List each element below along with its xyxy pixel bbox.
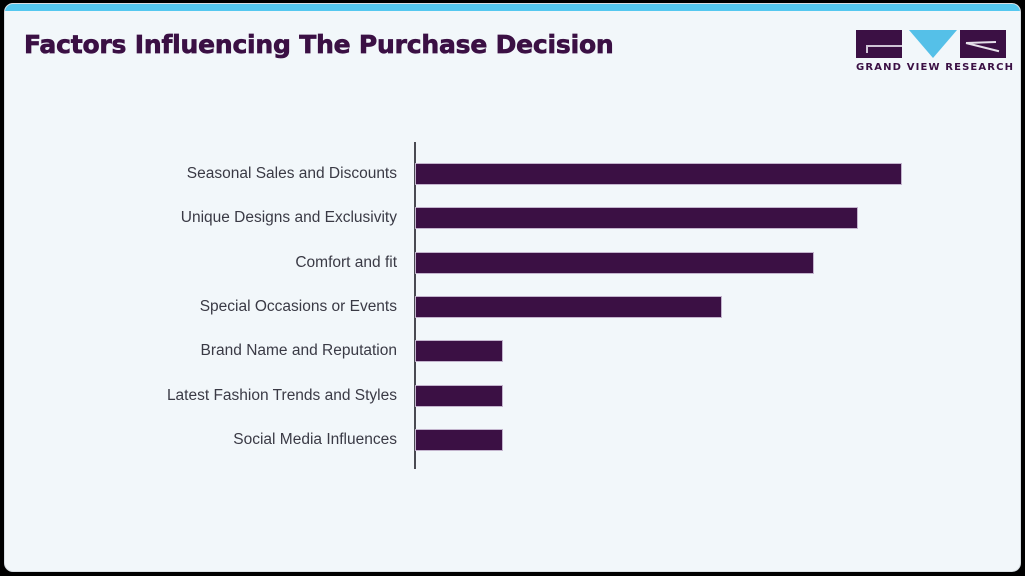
chart-row: Latest Fashion Trends and Styles — [5, 385, 1021, 407]
bar — [415, 207, 858, 229]
chart-row: Comfort and fit — [5, 252, 1021, 274]
bar-category-label: Unique Designs and Exclusivity — [4, 207, 397, 229]
slide-card: Factors Influencing The Purchase Decisio… — [4, 3, 1021, 572]
bar — [415, 340, 503, 362]
bar-category-label: Comfort and fit — [4, 252, 397, 274]
bar — [415, 429, 503, 451]
bar — [415, 252, 814, 274]
bar-category-label: Seasonal Sales and Discounts — [4, 163, 397, 185]
chart-row: Social Media Influences — [5, 429, 1021, 451]
bar-category-label: Special Occasions or Events — [4, 296, 397, 318]
bar-category-label: Brand Name and Reputation — [4, 340, 397, 362]
bar — [415, 296, 722, 318]
bar-category-label: Social Media Influences — [4, 429, 397, 451]
chart-row: Brand Name and Reputation — [5, 340, 1021, 362]
screenshot-canvas: Factors Influencing The Purchase Decisio… — [0, 0, 1025, 576]
bar — [415, 163, 902, 185]
chart-row: Special Occasions or Events — [5, 296, 1021, 318]
bar-category-label: Latest Fashion Trends and Styles — [4, 385, 397, 407]
bar-chart: Seasonal Sales and DiscountsUnique Desig… — [5, 4, 1021, 572]
chart-row: Unique Designs and Exclusivity — [5, 207, 1021, 229]
chart-row: Seasonal Sales and Discounts — [5, 163, 1021, 185]
bar — [415, 385, 503, 407]
